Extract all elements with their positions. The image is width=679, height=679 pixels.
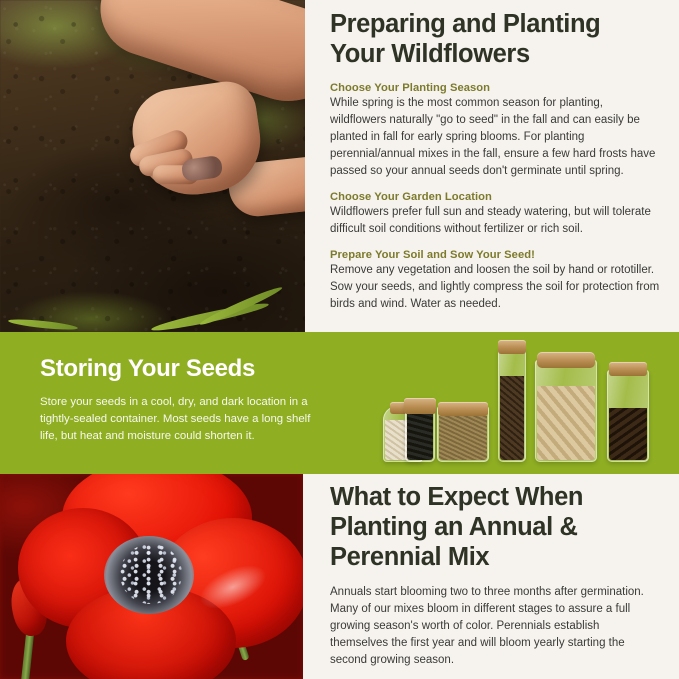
page-title-storing: Storing Your Seeds	[40, 355, 255, 383]
subhead-garden-location: Choose Your Garden Location	[330, 191, 660, 203]
cork-stopper	[609, 362, 647, 376]
subhead-prepare-soil: Prepare Your Soil and Sow Your Seed!	[330, 249, 660, 261]
section-preparing-planting: Preparing and Planting Your Wildflowers …	[0, 0, 679, 332]
hand-sowing-seeds-in-soil-photo	[0, 0, 305, 332]
seed-fill	[537, 386, 595, 460]
seed-jar	[607, 370, 649, 462]
cork-stopper	[438, 402, 488, 416]
seed-fill	[439, 416, 487, 460]
section-storing-your-seeds: Storing Your Seeds Store your seeds in a…	[0, 332, 679, 474]
paragraph-expect: Annuals start blooming two to three mont…	[330, 584, 660, 669]
expect-text-column: What to Expect When Planting an Annual &…	[303, 474, 679, 679]
section-what-to-expect: What to Expect When Planting an Annual &…	[0, 474, 679, 679]
infographic-page: Preparing and Planting Your Wildflowers …	[0, 0, 679, 679]
seed-jar	[498, 348, 526, 462]
seed-fill	[609, 408, 647, 460]
paragraph-storing: Store your seeds in a cool, dry, and dar…	[40, 394, 330, 445]
seeds-in-palm	[181, 155, 224, 182]
glass-jars-of-seeds-photo	[375, 336, 675, 470]
preparing-body-blocks: Choose Your Planting Season While spring…	[330, 82, 660, 313]
seed-fill	[500, 376, 524, 460]
subhead-planting-season: Choose Your Planting Season	[330, 82, 660, 94]
page-title-expect: What to Expect When Planting an Annual &…	[330, 482, 656, 572]
preparing-text-column: Preparing and Planting Your Wildflowers …	[305, 0, 679, 332]
paragraph-prepare-soil: Remove any vegetation and loosen the soi…	[330, 262, 660, 313]
paragraph-garden-location: Wildflowers prefer full sun and steady w…	[330, 204, 660, 238]
paragraph-planting-season: While spring is the most common season f…	[330, 95, 660, 180]
cork-stopper	[404, 398, 436, 414]
red-poppy-flower-closeup-photo	[0, 474, 303, 679]
cork-stopper	[537, 352, 595, 368]
poppy-stamens	[120, 544, 182, 604]
page-title-preparing: Preparing and Planting Your Wildflowers	[330, 9, 650, 69]
seed-fill	[407, 410, 433, 460]
cork-stopper	[498, 340, 526, 354]
seed-jar	[535, 360, 597, 462]
